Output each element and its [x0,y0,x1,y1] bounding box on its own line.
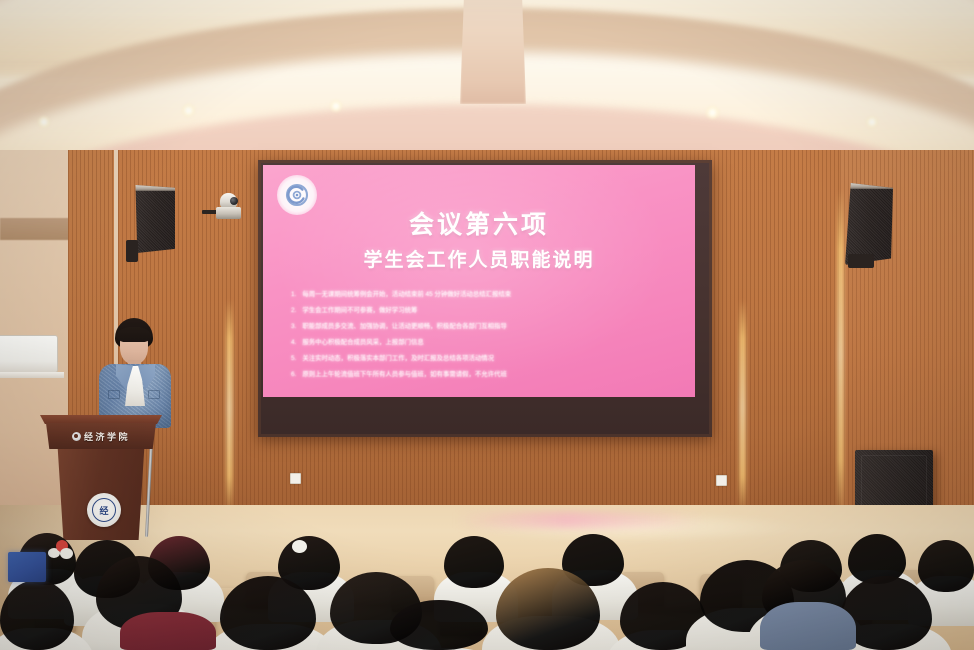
jacket-pocket-left [108,390,120,399]
slide-bullet-item: 5.关注实时动态，积极落实本部门工作，及时汇报及总结各项活动情况 [291,356,679,363]
bullet-number: 1. [291,292,296,299]
slide-title: 会议第六项 [263,205,695,241]
economics-school-logo-icon [72,432,81,441]
bullet-text: 每周一无课期间统筹例会开始，活动结束前 45 分钟做好活动总结汇报结束 [302,292,511,299]
slide-bullet-item: 6.原则上上午轮流值班下午所有人员参与值班，如有事需请假，不允许代班 [291,372,679,379]
speaker-bracket-left [126,240,138,262]
bullet-number: 3. [291,324,296,331]
slide-bullet-item: 4.服务中心积极配合成员风采，上报部门信息 [291,340,679,347]
audience-body [760,602,856,650]
led-accent-strip-far-right [838,190,843,520]
wall-socket-plate[interactable] [290,473,301,484]
wall-speaker-left [133,185,175,253]
microphone-stand-icon [145,441,153,537]
podium-label: 经济学院 [84,430,130,443]
bullet-number: 4. [291,340,296,347]
ceiling-spotlight [38,116,50,128]
camera-lens-icon [230,197,238,205]
podium: 经济学院 经 [40,415,162,540]
wall-speaker-right [845,183,893,265]
projection-screen: 会议第六项 学生会工作人员职能说明 1.每周一无课期间统筹例会开始，活动结束前 … [258,160,712,437]
wall-shelf [0,372,64,378]
floor-pink-light-spill [455,512,705,528]
podium-top-surface [40,415,162,424]
bullet-text: 学生会工作期间不可参赛，做好学习统筹 [302,308,417,315]
bullet-number: 5. [291,356,296,363]
bullet-number: 2. [291,308,296,315]
ceiling-spotlight [706,106,719,119]
slide-bullet-item: 2.学生会工作期间不可参赛，做好学习统筹 [291,308,679,315]
podium-front-panel: 经济学院 [46,423,156,449]
bullet-text: 关注实时动态，积极落实本部门工作，及时汇报及总结各项活动情况 [302,356,494,363]
led-accent-strip-right [740,300,745,515]
auditorium-scene: 会议第六项 学生会工作人员职能说明 1.每周一无课期间统筹例会开始，活动结束前 … [0,0,974,650]
hair-tie [60,548,73,559]
camera-base [216,207,241,219]
ceiling-spotlight [330,100,342,112]
camera-body [220,193,237,208]
ptz-camera-icon [216,193,246,221]
speaker-bracket-right [848,254,874,268]
presenter [96,318,174,428]
podium-seal-text: 经 [92,498,116,522]
ceiling-spotlight [866,116,878,128]
audience-body [120,612,216,650]
attendee-phone-screen [8,552,46,582]
ceiling [0,0,974,172]
jacket-pocket-right [148,390,160,399]
left-wall-stripe [0,218,75,240]
wall-ac-unit [0,335,58,373]
led-accent-strip-left [227,300,232,515]
podium-seal: 经 [87,493,121,527]
hair-tie [292,540,307,553]
slide-subtitle: 学生会工作人员职能说明 [263,245,695,272]
bullet-number: 6. [291,372,296,379]
bullet-text: 原则上上午轮流值班下午所有人员参与值班，如有事需请假，不允许代班 [302,372,507,379]
slide-bullet-item: 3.职能部成员多交流、加强协调，让活动更顺畅，积极配合各部门互相指导 [291,324,679,331]
audience-head [444,536,504,588]
bullet-text: 职能部成员多交流、加强协调，让活动更顺畅，积极配合各部门互相指导 [302,324,507,331]
wall-socket-plate-2[interactable] [716,475,727,486]
audience-head [918,540,974,592]
ceiling-soffit-column [460,0,526,104]
slide-bullet-list: 1.每周一无课期间统筹例会开始，活动结束前 45 分钟做好活动总结汇报结束2.学… [291,292,679,387]
bullet-text: 服务中心积极配合成员风采，上报部门信息 [302,340,423,347]
slide-bullet-item: 1.每周一无课期间统筹例会开始，活动结束前 45 分钟做好活动总结汇报结束 [291,292,679,299]
presentation-slide: 会议第六项 学生会工作人员职能说明 1.每周一无课期间统筹例会开始，活动结束前 … [263,165,695,397]
ceiling-spotlight [182,104,195,117]
presenter-fringe [117,327,151,342]
audience-head [390,600,488,650]
